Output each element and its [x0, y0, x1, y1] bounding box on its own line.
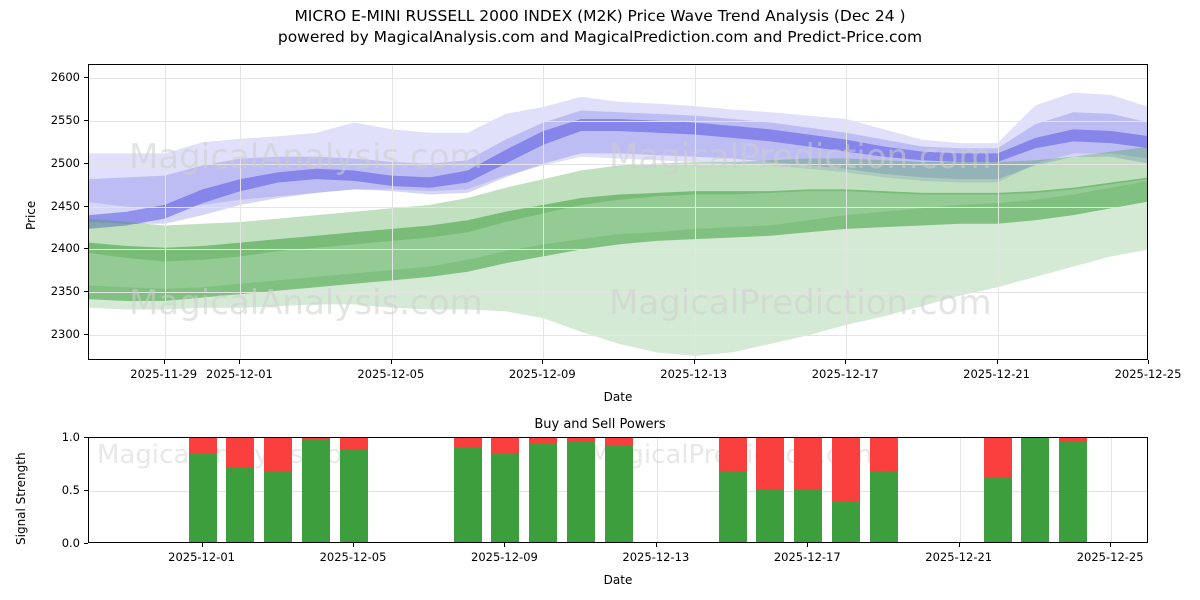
gridline-h — [89, 164, 1147, 165]
buy-power-segment — [794, 489, 822, 542]
power-bar[interactable] — [226, 437, 254, 542]
power-bar[interactable] — [756, 437, 784, 542]
powers-chart-title: Buy and Sell Powers — [0, 417, 1200, 432]
sell-power-segment — [832, 437, 860, 502]
buy-power-segment — [605, 446, 633, 542]
buy-power-segment — [1021, 437, 1049, 542]
x-tick-label: 2025-12-09 — [471, 550, 538, 564]
y-tick — [84, 291, 88, 292]
x-tick-label: 2025-12-09 — [509, 367, 576, 381]
power-bar[interactable] — [491, 437, 519, 542]
y-tick-label: 0.0 — [44, 536, 80, 550]
sell-power-segment — [340, 437, 368, 449]
x-tick-label: 2025-11-29 — [130, 367, 197, 381]
buy-power-segment — [832, 502, 860, 542]
gridline-v — [240, 65, 241, 359]
y-tick — [84, 334, 88, 335]
main-xaxis-title: Date — [88, 390, 1148, 404]
main-yaxis-title: Price — [24, 201, 38, 230]
power-bar[interactable] — [264, 437, 292, 542]
sell-power-segment — [719, 437, 747, 472]
buy-power-segment — [340, 449, 368, 542]
gridline-v — [695, 65, 696, 359]
sell-power-segment — [189, 437, 217, 454]
buy-power-segment — [1059, 441, 1087, 542]
sell-power-segment — [491, 437, 519, 453]
power-bar[interactable] — [870, 437, 898, 542]
x-tick — [694, 360, 695, 364]
gridline-h — [89, 207, 1147, 208]
power-bar[interactable] — [719, 437, 747, 542]
x-tick-label: 2025-12-21 — [963, 367, 1030, 381]
buy-power-segment — [870, 472, 898, 542]
x-tick-label: 2025-12-25 — [1077, 550, 1144, 564]
x-tick — [542, 360, 543, 364]
gridline-v — [846, 65, 847, 359]
page-title: MICRO E-MINI RUSSELL 2000 INDEX (M2K) Pr… — [0, 6, 1200, 48]
gridline-v — [392, 65, 393, 359]
x-tick — [164, 360, 165, 364]
x-tick — [845, 360, 846, 364]
y-tick — [84, 490, 88, 491]
powers-xaxis-title: Date — [88, 573, 1148, 587]
power-bar[interactable] — [794, 437, 822, 542]
sell-power-segment — [605, 437, 633, 446]
power-bar[interactable] — [189, 437, 217, 542]
y-tick-label: 2550 — [42, 113, 80, 127]
y-tick — [84, 206, 88, 207]
sell-power-segment — [454, 437, 482, 447]
power-bar[interactable] — [454, 437, 482, 542]
x-tick — [504, 543, 505, 547]
y-tick-label: 1.0 — [44, 430, 80, 444]
price-wave-chart: MagicalAnalysis.com MagicalPrediction.co… — [88, 64, 1148, 360]
sell-power-segment — [756, 437, 784, 489]
gridline-h — [89, 121, 1147, 122]
power-bar[interactable] — [302, 437, 330, 542]
power-bar[interactable] — [832, 437, 860, 542]
sell-power-segment — [264, 437, 292, 471]
sell-power-segment — [870, 437, 898, 472]
x-tick-label: 2025-12-25 — [1115, 367, 1182, 381]
buy-sell-powers-chart: MagicalAnalysis.com MagicalPrediction.co… — [88, 437, 1148, 543]
y-tick — [84, 437, 88, 438]
x-tick — [807, 543, 808, 547]
y-tick-label: 2500 — [42, 156, 80, 170]
wave-bands-layer — [89, 65, 1148, 360]
powers-yaxis-title: Signal Strength — [14, 452, 28, 545]
x-tick-label: 2025-12-05 — [357, 367, 424, 381]
x-tick — [656, 543, 657, 547]
gridline-v — [543, 65, 544, 359]
power-bar[interactable] — [1021, 437, 1049, 542]
buy-power-segment — [984, 477, 1012, 542]
y-tick — [84, 543, 88, 544]
power-bar[interactable] — [340, 437, 368, 542]
y-tick — [84, 120, 88, 121]
buy-power-segment — [454, 447, 482, 542]
y-tick — [84, 77, 88, 78]
buy-power-segment — [264, 471, 292, 542]
power-bar[interactable] — [567, 437, 595, 542]
buy-power-segment — [529, 444, 557, 542]
buy-power-segment — [719, 472, 747, 542]
buy-power-segment — [756, 489, 784, 542]
x-tick — [959, 543, 960, 547]
x-tick-label: 2025-12-21 — [925, 550, 992, 564]
y-tick-label: 2400 — [42, 241, 80, 255]
x-tick — [1110, 543, 1111, 547]
x-tick-label: 2025-12-01 — [206, 367, 273, 381]
x-tick — [391, 360, 392, 364]
x-tick — [997, 360, 998, 364]
x-tick-label: 2025-12-05 — [320, 550, 387, 564]
x-tick — [202, 543, 203, 547]
y-tick-label: 2600 — [42, 70, 80, 84]
x-tick — [353, 543, 354, 547]
gridline-v — [998, 65, 999, 359]
y-tick-label: 2450 — [42, 199, 80, 213]
gridline-h — [89, 292, 1147, 293]
x-tick-label: 2025-12-17 — [774, 550, 841, 564]
y-tick — [84, 248, 88, 249]
y-tick-label: 2300 — [42, 327, 80, 341]
x-tick — [1148, 360, 1149, 364]
x-tick-label: 2025-12-13 — [660, 367, 727, 381]
x-tick-label: 2025-12-01 — [168, 550, 235, 564]
sell-power-segment — [984, 437, 1012, 477]
sell-power-segment — [529, 437, 557, 444]
buy-power-segment — [491, 453, 519, 542]
sell-power-segment — [226, 437, 254, 467]
x-tick — [239, 360, 240, 364]
buy-power-segment — [302, 440, 330, 542]
power-bar[interactable] — [1059, 437, 1087, 542]
gridline-v — [165, 65, 166, 359]
buy-power-segment — [189, 454, 217, 542]
buy-power-segment — [567, 441, 595, 542]
gridline-v — [960, 438, 961, 542]
y-tick-label: 0.5 — [44, 483, 80, 497]
gridline-h — [89, 78, 1147, 79]
buy-power-segment — [226, 467, 254, 542]
x-tick-label: 2025-12-17 — [812, 367, 879, 381]
y-tick — [84, 163, 88, 164]
power-bar[interactable] — [984, 437, 1012, 542]
y-tick-label: 2350 — [42, 284, 80, 298]
power-bar[interactable] — [605, 437, 633, 542]
sell-power-segment — [794, 437, 822, 489]
gridline-h — [89, 249, 1147, 250]
power-bar[interactable] — [529, 437, 557, 542]
gridline-v — [657, 438, 658, 542]
gridline-h — [89, 335, 1147, 336]
gridline-v — [1111, 438, 1112, 542]
title-line-1: MICRO E-MINI RUSSELL 2000 INDEX (M2K) Pr… — [0, 6, 1200, 27]
x-tick-label: 2025-12-13 — [622, 550, 689, 564]
title-line-2: powered by MagicalAnalysis.com and Magic… — [0, 27, 1200, 48]
